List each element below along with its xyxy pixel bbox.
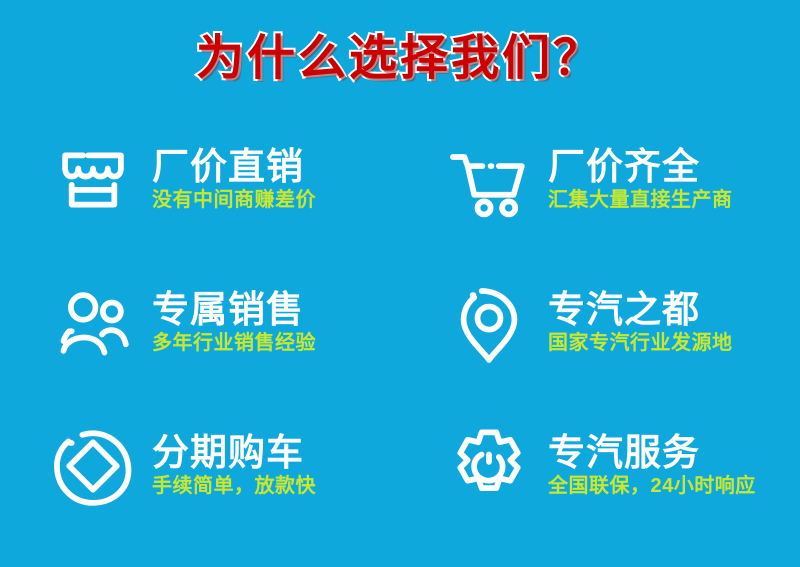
feature-text-block: 专汽服务 全国联保，24小时响应 [548,433,756,499]
feature-text-block: 厂价齐全 汇集大量直接生产商 [548,147,733,213]
feature-subtitle: 多年行业销售经验 [152,332,316,355]
feature-subtitle: 汇集大量直接生产商 [548,189,733,212]
storefront-icon [52,139,134,221]
feature-subtitle: 国家专汽行业发源地 [548,332,733,355]
feature-item-dedicated-sales[interactable]: 专属销售 多年行业销售经验 [52,251,410,394]
feature-title: 专属销售 [152,290,316,330]
feature-text-block: 厂价直销 没有中间商赚差价 [152,147,316,213]
shopping-cart-icon [448,139,530,221]
two-people-icon [52,282,134,364]
feature-subtitle: 手续简单，放款快 [152,475,316,498]
feature-item-factory-direct-sales[interactable]: 厂价直销 没有中间商赚差价 [52,108,410,251]
feature-title: 专汽之都 [548,290,733,330]
gear-icon [448,425,530,507]
feature-title: 专汽服务 [548,433,756,473]
feature-item-special-vehicle-service[interactable]: 专汽服务 全国联保，24小时响应 [420,394,778,537]
feature-title: 厂价齐全 [548,147,733,187]
promo-banner: 为什么选择我们？ 厂价直销 没有中间商赚差价 [0,0,800,567]
map-pin-icon [448,282,530,364]
page-title: 为什么选择我们？ [196,35,604,83]
heading-container: 为什么选择我们？ [0,0,800,108]
feature-title: 厂价直销 [152,147,316,187]
feature-title: 分期购车 [152,433,316,473]
feature-item-installment-purchase[interactable]: 分期购车 手续简单，放款快 [52,394,410,537]
feature-grid: 厂价直销 没有中间商赚差价 厂价齐全 汇集大量直接生产商 [0,108,800,567]
feature-subtitle: 全国联保，24小时响应 [548,475,756,498]
feature-item-full-price-range[interactable]: 厂价齐全 汇集大量直接生产商 [420,108,778,251]
feature-subtitle: 没有中间商赚差价 [152,189,316,212]
feature-text-block: 专汽之都 国家专汽行业发源地 [548,290,733,356]
diamond-in-circle-icon [52,425,134,507]
feature-text-block: 分期购车 手续简单，放款快 [152,433,316,499]
feature-text-block: 专属销售 多年行业销售经验 [152,290,316,356]
feature-item-special-vehicle-capital[interactable]: 专汽之都 国家专汽行业发源地 [420,251,778,394]
